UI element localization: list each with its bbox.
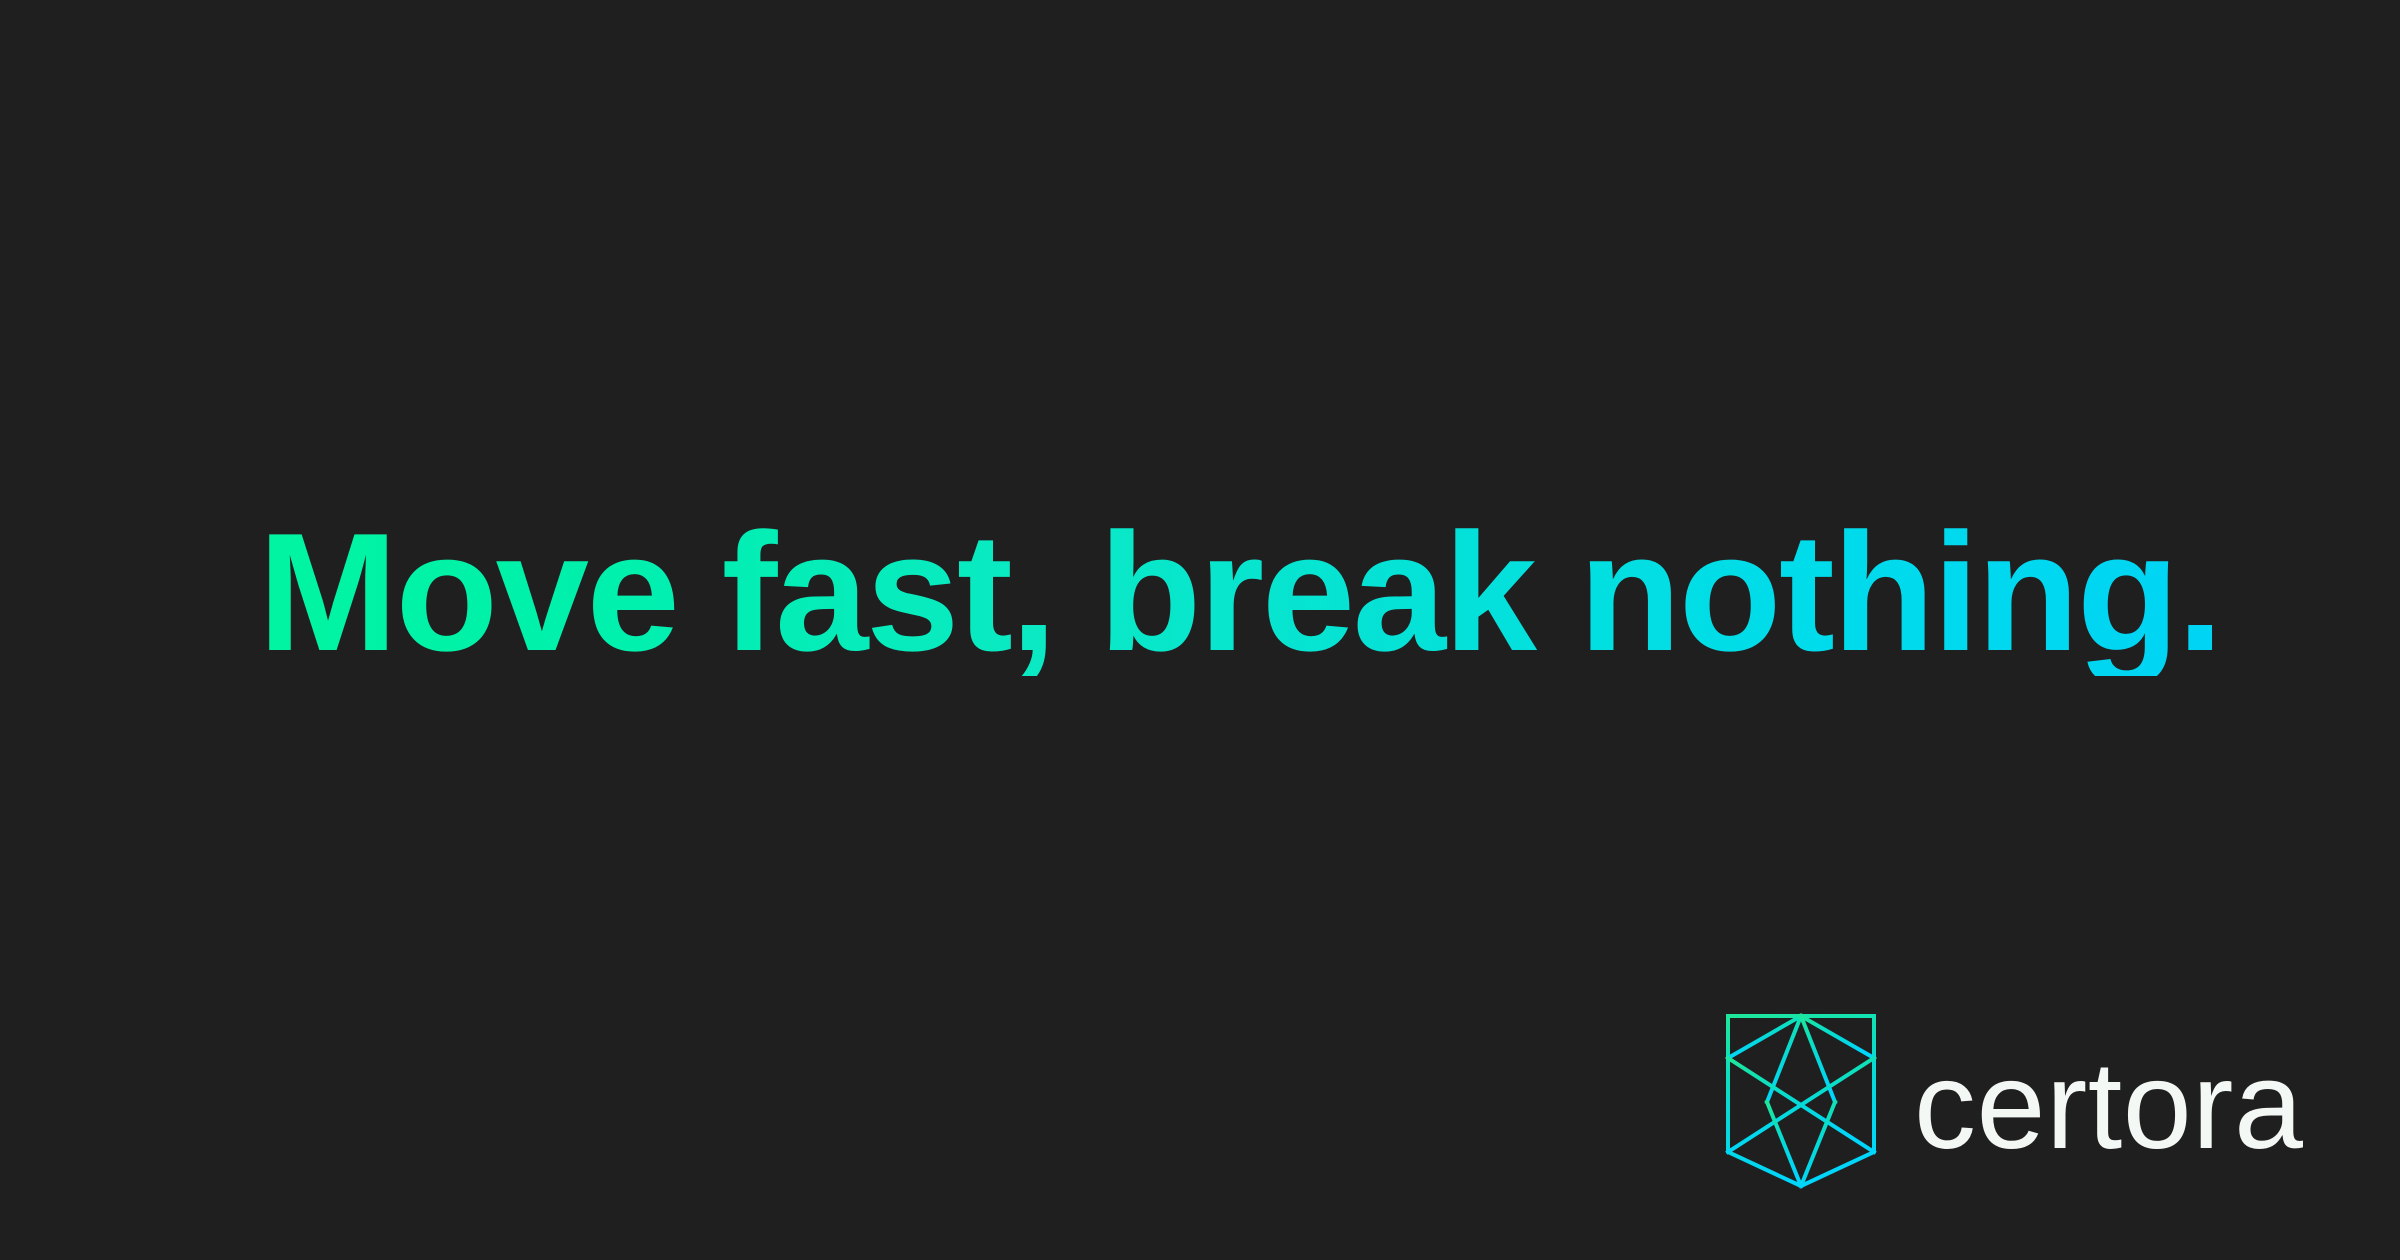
headline-block: Move fast, break nothing. [258,508,2218,718]
certora-shield-icon [1722,1010,1880,1190]
slide-canvas: Move fast, break nothing. [0,0,2400,1260]
certora-logo-lockup[interactable]: certora [1722,1010,2303,1190]
certora-wordmark: certora [1914,1044,2303,1168]
page-title: Move fast, break nothing. [258,508,2221,676]
